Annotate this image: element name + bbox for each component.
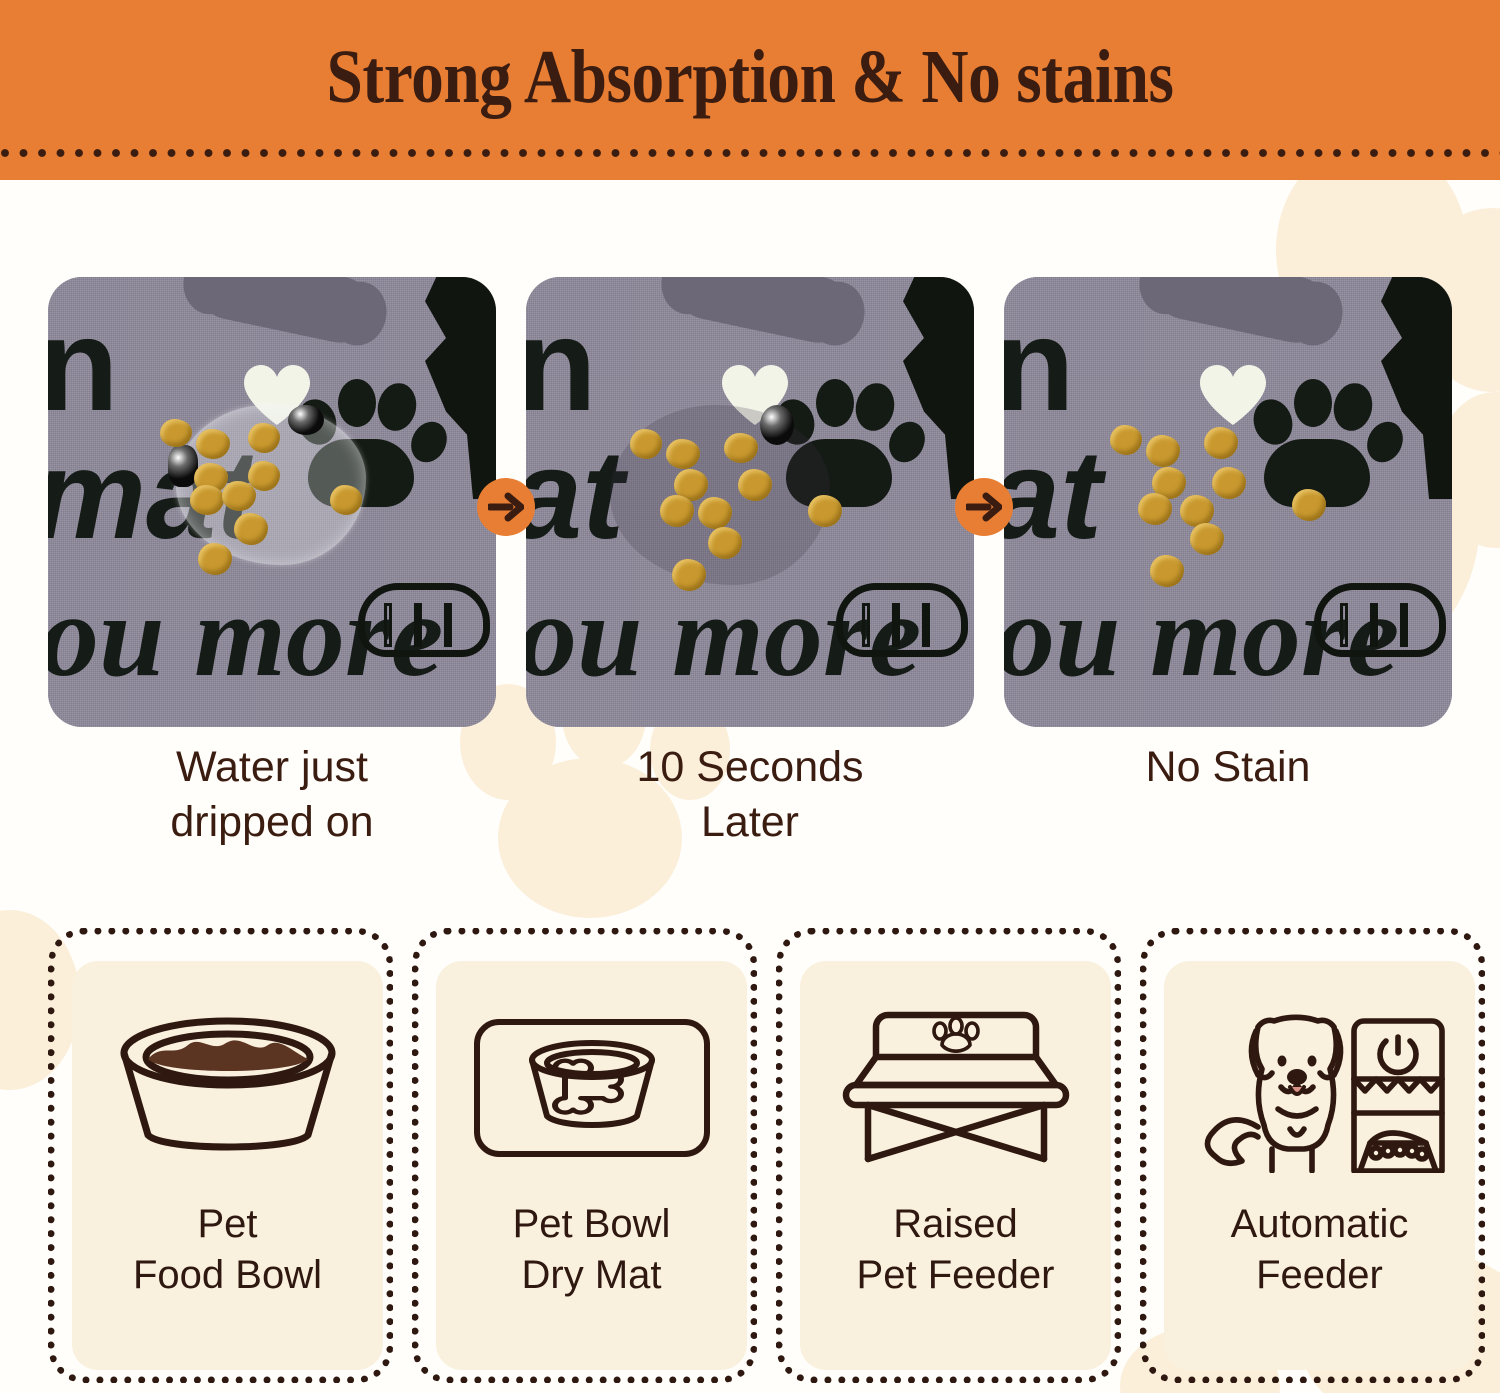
water-gloss-spot <box>288 405 324 435</box>
card-inner: Raised Pet Feeder <box>800 961 1111 1370</box>
header-dotted-divider <box>0 148 1500 160</box>
card-label-line: Pet <box>78 1199 378 1250</box>
card-icon-wrapper <box>826 983 1086 1193</box>
kibble <box>672 559 706 591</box>
caption-line: Later <box>526 795 974 850</box>
paw-emblem <box>934 1018 978 1051</box>
step-arrow-2 <box>955 478 1013 536</box>
caption-line: No Stain <box>1004 740 1452 795</box>
caption-line: dripped on <box>48 795 496 850</box>
mat-paw-outline-graphic <box>1314 583 1446 657</box>
kibble <box>708 527 742 559</box>
card-label-line: Raised <box>806 1199 1106 1250</box>
card-label-line: Food Bowl <box>78 1250 378 1301</box>
kibble <box>234 513 268 545</box>
mat-text-top: n <box>526 299 597 431</box>
dog-figure <box>1207 1017 1340 1171</box>
card-inner: Automatic Feeder <box>1164 961 1475 1370</box>
card-inner: Pet Food Bowl <box>72 961 383 1370</box>
page-title: Strong Absorption & No stains <box>105 34 1395 121</box>
kibble <box>196 429 230 459</box>
kibble <box>190 485 224 515</box>
kibble <box>1180 495 1214 527</box>
use-case-card-pet-food-bowl[interactable]: Pet Food Bowl <box>48 928 393 1383</box>
use-case-card-pet-bowl-dry-mat[interactable]: Pet Bowl Dry Mat <box>412 928 757 1383</box>
mat-text-top: n <box>48 299 119 431</box>
water-gloss-spot <box>760 405 794 445</box>
card-label: Raised Pet Feeder <box>806 1199 1106 1301</box>
use-case-card-automatic-feeder[interactable]: Automatic Feeder <box>1140 928 1485 1383</box>
kibble <box>330 485 362 515</box>
kibble <box>198 543 232 575</box>
kibble <box>738 469 772 501</box>
power-button-icon <box>1380 1037 1416 1072</box>
caption-water-dripped: Water just dripped on <box>48 740 496 849</box>
kibble <box>1138 493 1172 525</box>
kibble <box>222 481 256 511</box>
step-arrow-1 <box>477 478 535 536</box>
kibble <box>1150 555 1184 587</box>
caption-no-stain: No Stain <box>1004 740 1452 795</box>
caption-10-seconds: 10 Seconds Later <box>526 740 974 849</box>
arrow-right-icon <box>488 492 524 522</box>
demo-photo-water-dripped: n mat ou more <box>48 277 496 727</box>
card-label: Automatic Feeder <box>1170 1199 1470 1301</box>
card-icon-wrapper <box>1190 983 1450 1193</box>
kibble <box>630 429 662 459</box>
kibble-in-tray <box>1371 1145 1427 1159</box>
kibble <box>248 423 280 453</box>
card-icon-wrapper <box>462 983 722 1193</box>
kibble <box>808 495 842 527</box>
kibble <box>160 419 192 447</box>
card-icon-wrapper <box>98 983 358 1193</box>
kibble <box>724 433 758 463</box>
demo-captions: Water just dripped on 10 Seconds Later N… <box>0 740 1500 860</box>
caption-line: Water just <box>48 740 496 795</box>
feeder-machine <box>1354 1021 1442 1171</box>
raised-pet-feeder-icon <box>832 999 1080 1177</box>
use-case-card-raised-pet-feeder[interactable]: Raised Pet Feeder <box>776 928 1121 1383</box>
kibble <box>666 439 700 469</box>
kibble <box>698 497 732 529</box>
caption-line: 10 Seconds <box>526 740 974 795</box>
demo-photo-no-stain: n at ou more <box>1004 277 1452 727</box>
kibble <box>1110 425 1142 455</box>
kibble <box>1190 523 1224 555</box>
card-label-line: Automatic <box>1170 1199 1470 1250</box>
card-label-line: Feeder <box>1170 1250 1470 1301</box>
mat-paw-outline-graphic <box>358 583 490 657</box>
card-label-line: Pet Feeder <box>806 1250 1106 1301</box>
kibble <box>1212 467 1246 499</box>
kibble <box>1292 489 1326 521</box>
kibble <box>1146 435 1180 467</box>
mat-pawprint-graphic <box>1250 377 1400 507</box>
mat-paw-outline-graphic <box>836 583 968 657</box>
header-banner: Strong Absorption & No stains <box>0 0 1500 180</box>
use-case-cards: Pet Food Bowl <box>0 928 1500 1388</box>
demo-photo-10-seconds: n at ou more <box>526 277 974 727</box>
kibble <box>660 495 694 527</box>
arrow-right-icon <box>966 492 1002 522</box>
automatic-feeder-icon <box>1194 1003 1446 1173</box>
infographic-page: Strong Absorption & No stains n mat ou m… <box>0 0 1500 1393</box>
bowl-food-fill <box>148 1040 308 1071</box>
card-label: Pet Food Bowl <box>78 1199 378 1301</box>
mat-text-mid: at <box>1004 432 1102 558</box>
card-inner: Pet Bowl Dry Mat <box>436 961 747 1370</box>
mat-text-top: n <box>1004 299 1075 431</box>
kibble <box>1204 427 1238 459</box>
card-label-line: Dry Mat <box>442 1250 742 1301</box>
card-label-line: Pet Bowl <box>442 1199 742 1250</box>
demo-photo-strip: n mat ou more <box>0 277 1500 727</box>
pet-food-bowl-icon <box>104 1013 352 1163</box>
pet-bowl-dry-mat-icon <box>473 1018 711 1158</box>
card-label: Pet Bowl Dry Mat <box>442 1199 742 1301</box>
